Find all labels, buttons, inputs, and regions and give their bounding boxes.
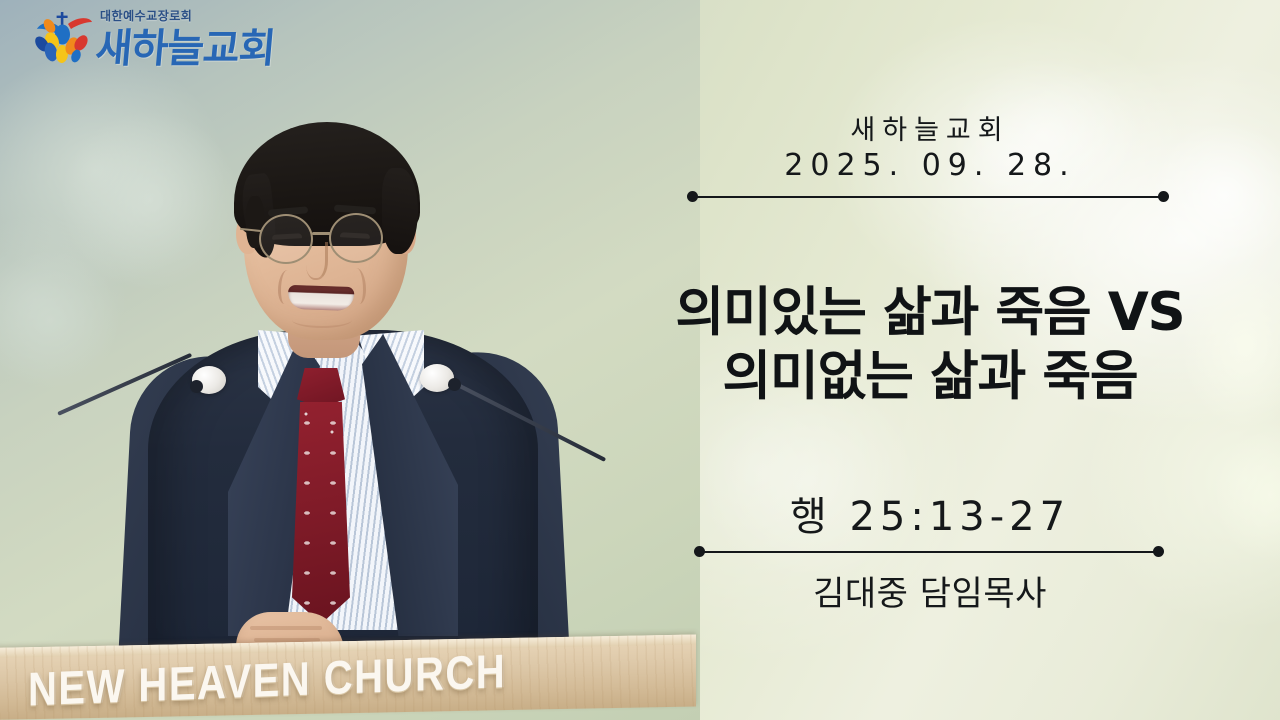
preacher-name: 김대중 담임목사 (660, 566, 1200, 615)
necktie-pattern (292, 402, 350, 624)
divider-line (700, 551, 1158, 553)
chin (292, 312, 352, 328)
church-name-text: 새하늘교회 (660, 108, 1200, 147)
sermon-title-line-2: 의미없는 삶과 죽음 (644, 345, 1216, 409)
wooden-pulpit: NEW HEAVEN CHURCH (0, 634, 696, 720)
smiling-mouth (288, 285, 355, 311)
divider-dot-right (1153, 546, 1164, 557)
eyeglasses-lens-left (259, 214, 313, 264)
microphone-capsule-right (448, 378, 461, 391)
scripture-reference: 행 25:13-27 (660, 484, 1200, 542)
nose (306, 242, 328, 280)
church-logo: 대한예수교장로회 새하늘교회 (34, 4, 294, 66)
divider-bottom (694, 544, 1164, 560)
sermon-title-slide: NEW HEAVEN CHURCH (0, 0, 1280, 720)
eyeglasses-lens-right (329, 213, 383, 263)
speaker-photo (0, 0, 700, 720)
microphone-capsule-left (190, 380, 203, 393)
sermon-title: 의미있는 삶과 죽음 VS 의미없는 삶과 죽음 (644, 281, 1216, 409)
hair-side-right (382, 168, 418, 254)
eyeglasses-bridge (312, 232, 331, 235)
divider-top (687, 189, 1169, 205)
sermon-date-text: 2025. 09. 28. (660, 148, 1200, 183)
sermon-title-line-1: 의미있는 삶과 죽음 VS (644, 281, 1216, 345)
sermon-info-panel: 새하늘교회 2025. 09. 28. 의미있는 삶과 죽음 VS 의미없는 삶… (660, 0, 1200, 720)
divider-dot-right (1158, 191, 1169, 202)
logo-church-name: 새하늘교회 (93, 16, 277, 74)
church-emblem-icon (34, 10, 94, 64)
bokeh-circle (1215, 430, 1280, 560)
divider-line (693, 196, 1163, 198)
